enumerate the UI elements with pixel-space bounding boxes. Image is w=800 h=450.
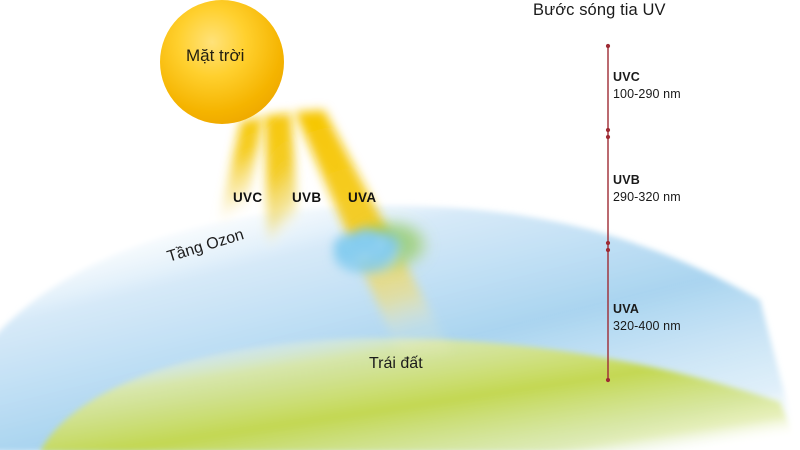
ray-label-uvb: UVB	[292, 191, 321, 205]
uvb-beam	[265, 113, 300, 249]
scale-band-range-uvb: 290-320 nm	[613, 191, 681, 204]
scale-title: Bước sóng tia UV	[533, 2, 666, 19]
sun-label: Mặt trời	[186, 47, 244, 65]
diagram-artwork	[0, 0, 800, 450]
cloud-icon	[333, 228, 403, 276]
scale-band-name-uvb: UVB	[613, 174, 640, 187]
uv-wavelength-infographic: Bước sóng tia UV UVC 100-290 nm UVB 290-…	[0, 0, 800, 450]
ray-label-uva: UVA	[348, 191, 376, 205]
scale-band-range-uva: 320-400 nm	[613, 320, 681, 333]
earth-label: Trái đất	[369, 356, 423, 373]
scale-band-name-uva: UVA	[613, 303, 639, 316]
ray-label-uvc: UVC	[233, 191, 262, 205]
scale-band-name-uvc: UVC	[613, 71, 640, 84]
scale-band-range-uvc: 100-290 nm	[613, 88, 681, 101]
uvc-beam	[219, 117, 263, 224]
